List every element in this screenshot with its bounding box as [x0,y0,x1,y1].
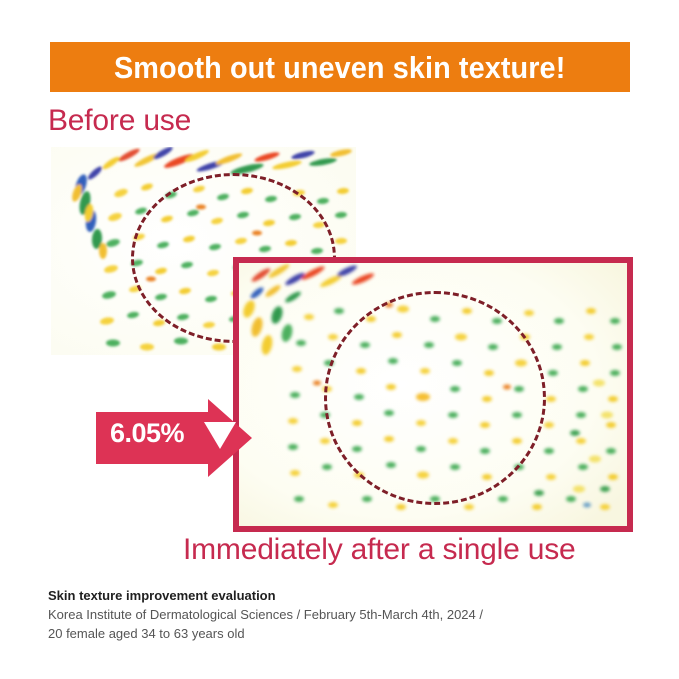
improvement-value: 6.05% [110,420,214,447]
infographic-page: Smooth out uneven skin texture! Before u… [0,0,679,679]
skin-texture-map-after [239,263,627,526]
banner-title-text: Smooth out uneven skin texture! [114,52,565,83]
after-use-skin-image-frame [233,257,633,532]
footnote-line-2: 20 female aged 34 to 63 years old [48,624,628,643]
improvement-arrow-badge: 6.05% [96,399,252,477]
before-use-caption: Before use [48,104,191,137]
title-banner: Smooth out uneven skin texture! [50,42,630,92]
after-use-skin-image [239,263,627,526]
after-use-caption: Immediately after a single use [183,533,576,566]
study-footnote: Skin texture improvement evaluation Kore… [48,586,628,644]
footnote-line-1: Korea Institute of Dermatological Scienc… [48,605,628,624]
footnote-title: Skin texture improvement evaluation [48,586,628,605]
down-triangle-icon [204,422,236,449]
